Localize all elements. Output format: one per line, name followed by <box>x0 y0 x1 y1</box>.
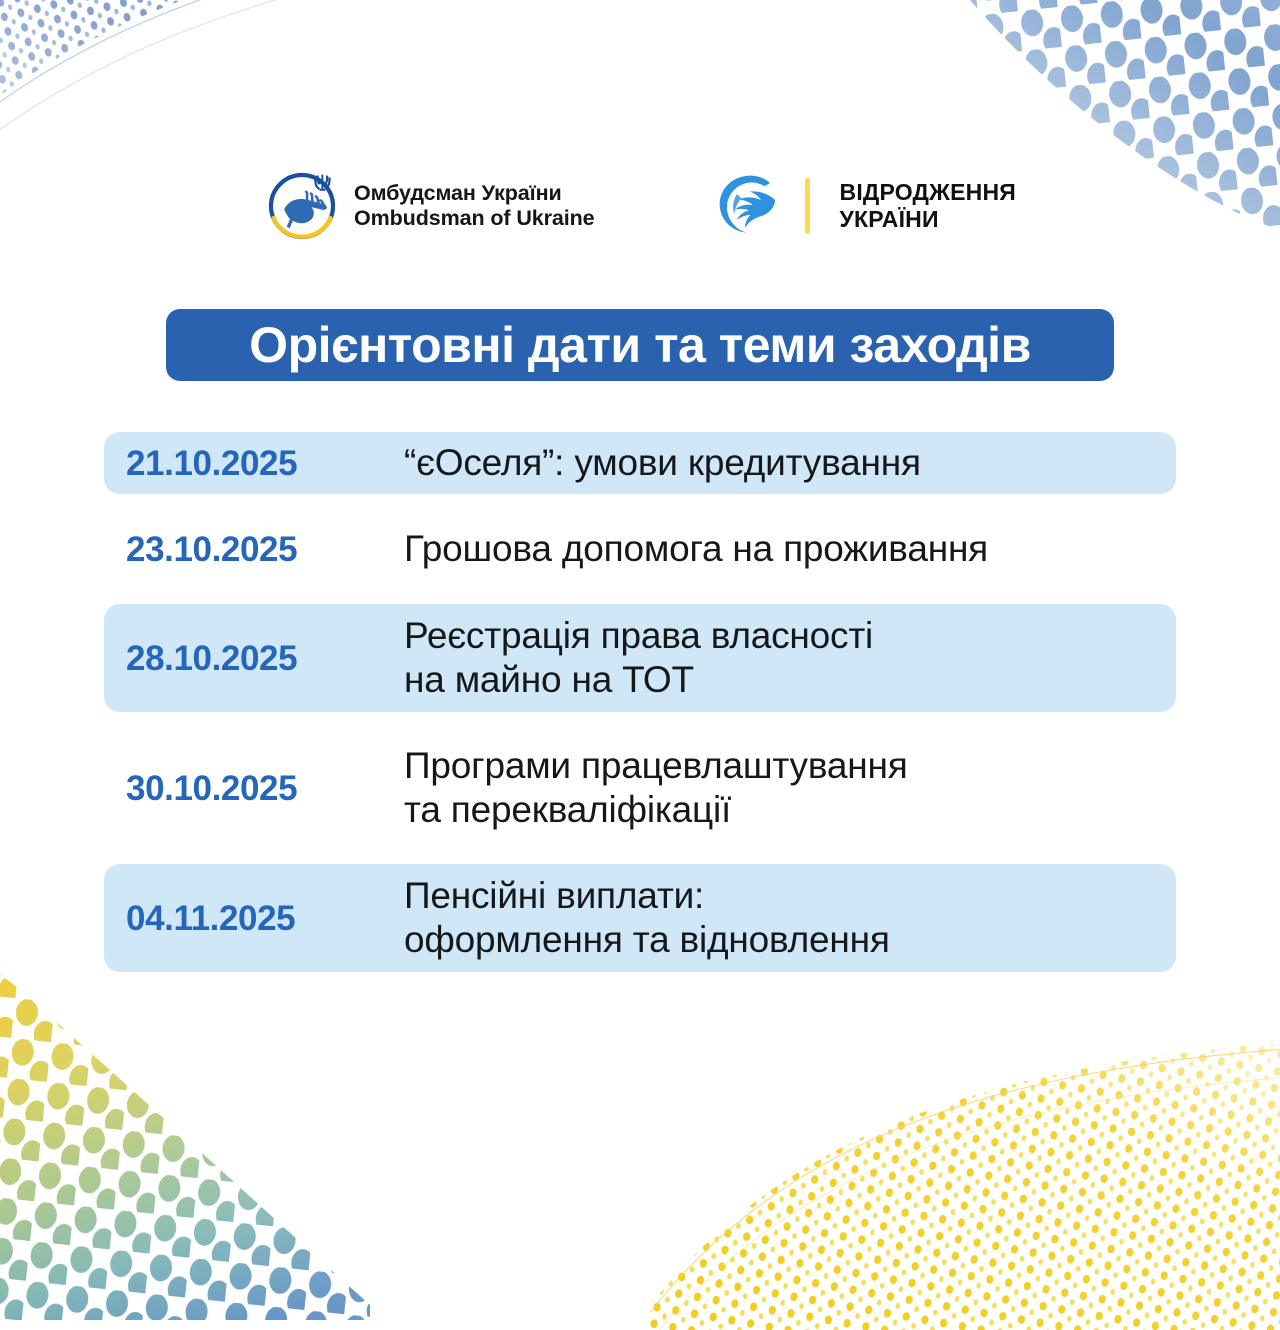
ombudsman-logo-line-uk: Омбудсман України <box>354 181 595 206</box>
schedule-row-topic: “єОселя”: умови кредитування <box>404 441 1176 485</box>
schedule-row-topic: Пенсійні виплати: оформлення та відновле… <box>404 874 1176 963</box>
schedule-row-date: 28.10.2025 <box>126 641 404 676</box>
vidrodzhennia-logo-line-2: УКРАЇНИ <box>840 206 1016 233</box>
decorative-dots-bottom-right <box>650 990 1280 1330</box>
decorative-dots-bottom-left <box>0 950 370 1320</box>
schedule-list: 21.10.2025 “єОселя”: умови кредитування … <box>0 432 1280 972</box>
schedule-row-date: 23.10.2025 <box>126 532 404 567</box>
schedule-row: 04.11.2025 Пенсійні виплати: оформлення … <box>104 864 1176 972</box>
schedule-row-date: 30.10.2025 <box>126 771 404 806</box>
schedule-row: 21.10.2025 “єОселя”: умови кредитування <box>104 432 1176 494</box>
ombudsman-logo-text: Омбудсман України Ombudsman of Ukraine <box>354 181 595 231</box>
schedule-row: 30.10.2025 Програми працевлаштування та … <box>104 734 1176 842</box>
vidrodzhennia-logo-line-1: ВІДРОДЖЕННЯ <box>840 179 1016 206</box>
schedule-row-date: 04.11.2025 <box>126 901 404 936</box>
header-logos: Омбудсман України Ombudsman of Ukraine В… <box>0 158 1280 254</box>
ombudsman-logo-line-en: Ombudsman of Ukraine <box>354 206 595 231</box>
schedule-row-date: 21.10.2025 <box>126 446 404 481</box>
vidrodzhennia-logo-text: ВІДРОДЖЕННЯ УКРАЇНИ <box>840 179 1016 233</box>
phoenix-bird-circle-icon <box>713 170 785 242</box>
logo-vidrodzhennia-ukrainy: ВІДРОДЖЕННЯ УКРАЇНИ <box>713 170 1016 242</box>
schedule-row-topic: Грошова допомога на проживання <box>404 527 1176 571</box>
schedule-row-topic: Програми працевлаштування та перекваліфі… <box>404 744 1176 833</box>
logo-vertical-divider <box>805 178 810 234</box>
logo-ombudsman-of-ukraine: Омбудсман України Ombudsman of Ukraine <box>264 168 595 244</box>
schedule-row: 28.10.2025 Реєстрація права власності на… <box>104 604 1176 712</box>
page-title-banner: Орієнтовні дати та теми заходів <box>166 309 1114 381</box>
ombudsman-dove-hand-emblem-icon <box>264 168 340 244</box>
page-title: Орієнтовні дати та теми заходів <box>249 320 1031 370</box>
schedule-row: 23.10.2025 Грошова допомога на проживанн… <box>104 518 1176 580</box>
schedule-row-topic: Реєстрація права власності на майно на Т… <box>404 614 1176 703</box>
